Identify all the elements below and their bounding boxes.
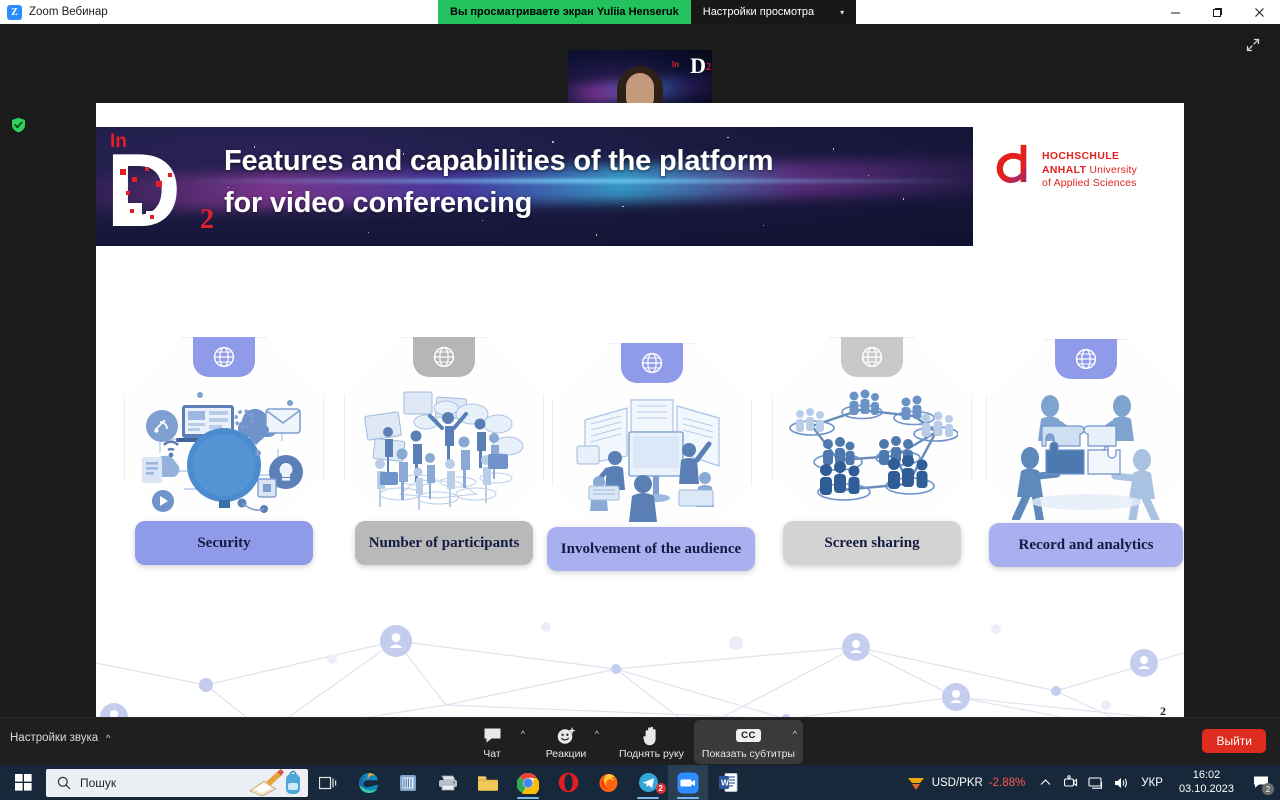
sharing-banner: Вы просматриваете экран Yuliia Henseruk xyxy=(438,0,691,24)
zoom-icon[interactable] xyxy=(668,765,708,800)
university-line1: HOCHSCHULE xyxy=(1042,150,1137,164)
clock-time: 16:02 xyxy=(1179,769,1234,783)
globe-icon xyxy=(859,344,885,370)
card-globe-tab xyxy=(841,337,903,377)
zoom-meeting-toolbar: Настройки звука ^ Чат ^ xyxy=(0,717,1280,765)
search-highlight-doodle-icon xyxy=(246,769,304,797)
show-captions-button[interactable]: CC Показать субтитры ^ xyxy=(694,720,803,764)
card-label: Security xyxy=(197,534,250,553)
university-name: HOCHSCHULE ANHALT University of Applied … xyxy=(1042,141,1137,191)
card-illustration-crowd-of-people xyxy=(356,375,532,525)
app-title: Zoom Вебинар xyxy=(29,6,108,18)
card-globe-tab xyxy=(193,337,255,377)
encryption-shield-icon[interactable] xyxy=(10,116,27,133)
card-label-plate: Screen sharing xyxy=(783,521,961,565)
slide-header: In D 2 Feat xyxy=(96,127,1184,246)
card-illustration-puzzle-teamwork xyxy=(998,377,1174,527)
task-view-icon[interactable] xyxy=(308,765,348,800)
logo-d-letter: D xyxy=(106,139,181,243)
telegram-unread-badge: 2 xyxy=(656,783,666,794)
chat-button[interactable]: Чат ^ xyxy=(463,720,521,764)
chat-label: Чат xyxy=(483,748,500,760)
maximize-button[interactable] xyxy=(1196,0,1238,24)
slide-title-line1: Features and capabilities of the platfor… xyxy=(224,141,963,183)
file-explorer-icon[interactable] xyxy=(468,765,508,800)
audio-settings-label: Настройки звука xyxy=(10,732,98,744)
in-d2-watermark-logo: In D 2 xyxy=(672,54,706,80)
cc-chip-label: CC xyxy=(736,729,761,742)
feature-card-number-of-participants[interactable]: Number of participants xyxy=(344,337,544,565)
meeting-stage: In D 2 Yuliia Henseruk xyxy=(0,24,1280,720)
chevron-up-icon[interactable]: ^ xyxy=(595,729,599,739)
card-label-plate: Number of participants xyxy=(355,521,533,565)
university-logo-block: HOCHSCHULE ANHALT University of Applied … xyxy=(973,127,1184,246)
globe-icon xyxy=(431,344,457,370)
reactions-label: Реакции xyxy=(546,748,587,760)
audio-settings-button[interactable]: Настройки звука ^ xyxy=(10,732,110,744)
card-label-plate: Record and analytics xyxy=(989,523,1183,567)
leave-meeting-button[interactable]: Выйти xyxy=(1202,729,1266,753)
card-label: Record and analytics xyxy=(1019,536,1154,555)
anhalt-a-icon xyxy=(991,141,1033,185)
opera-icon[interactable] xyxy=(548,765,588,800)
card-globe-tab xyxy=(413,337,475,377)
search-input[interactable]: Пошук xyxy=(46,769,308,797)
expand-view-icon[interactable] xyxy=(1242,34,1264,56)
feature-card-record-and-analytics[interactable]: Record and analytics xyxy=(986,339,1184,567)
minimize-button[interactable] xyxy=(1154,0,1196,24)
clock[interactable]: 16:02 03.10.2023 xyxy=(1171,769,1242,797)
zoom-app-icon: Z xyxy=(7,5,22,20)
stock-pair: USD/PKR xyxy=(932,777,983,789)
logo-d-text: D xyxy=(690,53,706,78)
search-icon xyxy=(57,776,71,790)
slide-title-line2: for video conferencing xyxy=(224,183,963,225)
slide-title: Features and capabilities of the platfor… xyxy=(224,141,963,225)
search-placeholder: Пошук xyxy=(80,776,116,790)
chevron-down-icon: ▾ xyxy=(840,8,844,17)
action-center-button[interactable]: 2 xyxy=(1242,765,1280,800)
chevron-up-icon: ^ xyxy=(106,733,110,743)
svg-text:W: W xyxy=(721,778,729,788)
window-controls xyxy=(1154,0,1280,24)
show-captions-label: Показать субтитры xyxy=(702,748,795,760)
reactions-icon xyxy=(556,726,576,746)
view-options-label: Настройки просмотра xyxy=(703,6,814,18)
volume-icon[interactable] xyxy=(1108,765,1133,800)
stock-arrow-icon xyxy=(906,775,926,791)
stock-ticker[interactable]: USD/PKR -2.88% xyxy=(898,775,1034,791)
card-label-plate: Security xyxy=(135,521,313,565)
card-globe-tab xyxy=(1055,339,1117,379)
mozilla-firefox-icon[interactable] xyxy=(588,765,628,800)
chat-icon xyxy=(483,726,502,746)
windows-taskbar: Пошук xyxy=(0,765,1280,800)
keyboard-language-indicator[interactable]: УКР xyxy=(1133,777,1171,789)
card-illustration-audience-presentation xyxy=(564,381,740,531)
view-options-button[interactable]: Настройки просмотра ▾ xyxy=(691,0,856,24)
network-icon[interactable] xyxy=(1083,765,1108,800)
webcam-icon[interactable] xyxy=(1058,765,1083,800)
stock-change: -2.88% xyxy=(989,777,1025,789)
card-label-plate: Involvement of the audience xyxy=(547,527,755,571)
start-button[interactable] xyxy=(0,765,46,800)
scanner-app-icon[interactable] xyxy=(388,765,428,800)
card-label: Screen sharing xyxy=(824,534,919,553)
notification-count-badge: 2 xyxy=(1262,783,1274,795)
chevron-up-icon[interactable]: ^ xyxy=(793,729,797,739)
card-illustration-connected-groups xyxy=(784,375,960,525)
card-label: Involvement of the audience xyxy=(561,540,741,559)
feature-cards: Security xyxy=(96,337,1184,607)
raise-hand-button[interactable]: Поднять руку xyxy=(611,720,692,764)
card-label: Number of participants xyxy=(369,534,520,553)
logo-2-text: 2 xyxy=(706,56,711,80)
university-line3: of Applied Sciences xyxy=(1042,177,1137,191)
globe-icon xyxy=(639,350,665,376)
show-hidden-icons-chevron-icon[interactable] xyxy=(1033,765,1058,800)
card-illustration-security-network-icons xyxy=(136,375,312,525)
telegram-icon[interactable]: 2 xyxy=(628,765,668,800)
toolbar-controls: Чат ^ Реакции ^ xyxy=(463,718,817,766)
globe-icon xyxy=(1073,346,1099,372)
screen-share-status-bar: Вы просматриваете экран Yuliia Henseruk … xyxy=(438,0,856,24)
in-d2-logo: In D 2 xyxy=(102,129,220,244)
closed-captions-icon: CC xyxy=(736,726,761,746)
logo-in-text: In xyxy=(672,53,679,77)
screen: Z Zoom Вебинар Вы просматриваете экран Y… xyxy=(0,0,1280,800)
chevron-up-icon[interactable]: ^ xyxy=(521,729,525,739)
university-line2: ANHALT University xyxy=(1042,164,1137,178)
printer-icon[interactable] xyxy=(428,765,468,800)
microsoft-edge-icon[interactable] xyxy=(348,765,388,800)
reactions-button[interactable]: Реакции ^ xyxy=(537,720,595,764)
raise-hand-icon xyxy=(642,726,660,746)
slide-title-banner: In D 2 Feat xyxy=(96,127,973,246)
logo-2-subscript: 2 xyxy=(200,204,214,236)
clock-date: 03.10.2023 xyxy=(1179,783,1234,797)
feature-card-involvement-of-the-audience[interactable]: Involvement of the audience xyxy=(552,343,752,571)
close-button[interactable] xyxy=(1238,0,1280,24)
google-chrome-icon[interactable] xyxy=(508,765,548,800)
raise-hand-label: Поднять руку xyxy=(619,748,684,760)
zoom-title-bar: Z Zoom Вебинар Вы просматриваете экран Y… xyxy=(0,0,1280,24)
microsoft-word-icon[interactable]: W xyxy=(708,765,748,800)
card-globe-tab xyxy=(621,343,683,383)
system-tray: USD/PKR -2.88% xyxy=(898,765,1280,800)
feature-card-security[interactable]: Security xyxy=(124,337,324,565)
shared-slide: In D 2 Feat xyxy=(96,103,1184,720)
feature-card-screen-sharing[interactable]: Screen sharing xyxy=(772,337,972,565)
network-decoration xyxy=(96,601,1184,720)
globe-icon xyxy=(211,344,237,370)
